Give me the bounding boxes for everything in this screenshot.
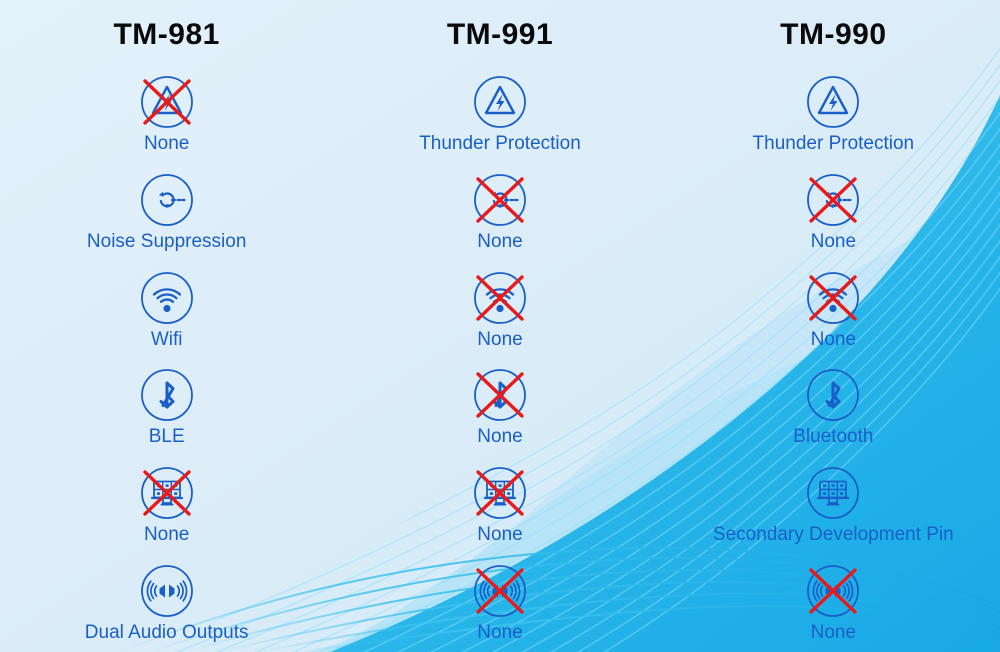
column-title-1: TM-991 — [333, 4, 666, 66]
wifi-icon — [139, 270, 195, 326]
noise-suppression-icon-disabled — [472, 172, 528, 228]
wifi-icon-disabled — [805, 270, 861, 326]
thunder-protection-icon — [805, 74, 861, 130]
feature-cell-dual-audio-outputs-col2: None — [667, 554, 1000, 652]
feature-cell-dual-audio-outputs-col1: None — [333, 554, 666, 652]
bluetooth-icon-disabled — [472, 367, 528, 423]
cross-out-mark — [478, 277, 522, 319]
feature-cell-secondary-development-pin-col2: Secondary Development Pin — [667, 457, 1000, 555]
feature-cell-wifi-col2: None — [667, 261, 1000, 359]
feature-cell-bluetooth-col2: Bluetooth — [667, 359, 1000, 457]
feature-label: None — [811, 330, 856, 351]
cross-out-mark — [478, 374, 522, 416]
feature-label: Secondary Development Pin — [713, 525, 954, 546]
feature-cell-bluetooth-col0: BLE — [0, 359, 333, 457]
feature-cell-bluetooth-col1: None — [333, 359, 666, 457]
thunder-protection-icon-disabled — [139, 74, 195, 130]
feature-label: None — [477, 330, 522, 351]
dual-audio-icon-disabled — [472, 563, 528, 619]
column-title-text: TM-990 — [780, 18, 886, 52]
column-title-0: TM-981 — [0, 4, 333, 66]
pin-header-icon-disabled — [472, 465, 528, 521]
feature-label: Thunder Protection — [419, 134, 581, 155]
noise-suppression-icon-disabled — [805, 172, 861, 228]
feature-label: None — [144, 134, 189, 155]
cross-out-mark — [811, 277, 855, 319]
feature-cell-wifi-col1: None — [333, 261, 666, 359]
pin-header-icon — [805, 465, 861, 521]
feature-label: Thunder Protection — [753, 134, 915, 155]
feature-label: Bluetooth — [793, 427, 873, 448]
column-title-text: TM-981 — [113, 18, 219, 52]
feature-label: Dual Audio Outputs — [85, 623, 249, 644]
pin-header-icon-disabled — [139, 465, 195, 521]
feature-cell-wifi-col0: Wifi — [0, 261, 333, 359]
noise-suppression-icon — [139, 172, 195, 228]
feature-label: None — [144, 525, 189, 546]
cross-out-mark — [145, 472, 189, 514]
feature-label: None — [477, 525, 522, 546]
feature-cell-noise-suppression-col1: None — [333, 164, 666, 262]
feature-label: None — [477, 623, 522, 644]
feature-label: BLE — [149, 427, 185, 448]
feature-cell-thunder-protection-col0: None — [0, 66, 333, 164]
feature-cell-secondary-development-pin-col0: None — [0, 457, 333, 555]
column-title-2: TM-990 — [667, 4, 1000, 66]
feature-cell-thunder-protection-col2: Thunder Protection — [667, 66, 1000, 164]
feature-label: None — [811, 232, 856, 253]
thunder-protection-icon — [472, 74, 528, 130]
feature-cell-dual-audio-outputs-col0: Dual Audio Outputs — [0, 554, 333, 652]
feature-label: None — [477, 427, 522, 448]
bluetooth-icon — [805, 367, 861, 423]
feature-cell-thunder-protection-col1: Thunder Protection — [333, 66, 666, 164]
cross-out-mark — [478, 472, 522, 514]
column-title-text: TM-991 — [447, 18, 553, 52]
feature-cell-noise-suppression-col0: Noise Suppression — [0, 164, 333, 262]
comparison-grid: TM-981 TM-991 TM-990 None Thunder Protec… — [0, 0, 1000, 652]
bluetooth-icon — [139, 367, 195, 423]
feature-cell-noise-suppression-col2: None — [667, 164, 1000, 262]
feature-label: Wifi — [151, 330, 183, 351]
feature-label: None — [811, 623, 856, 644]
feature-label: None — [477, 232, 522, 253]
dual-audio-icon — [139, 563, 195, 619]
feature-cell-secondary-development-pin-col1: None — [333, 457, 666, 555]
wifi-icon-disabled — [472, 270, 528, 326]
feature-label: Noise Suppression — [87, 232, 246, 253]
dual-audio-icon-disabled — [805, 563, 861, 619]
